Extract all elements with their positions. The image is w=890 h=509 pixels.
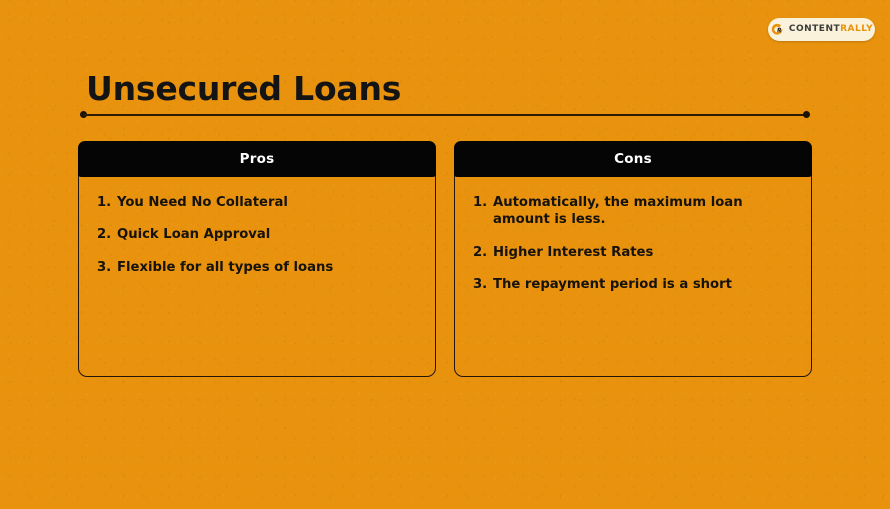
panel-pros-header-title: Pros	[240, 151, 275, 167]
panel-pros-list: 1. You Need No Collateral 2. Quick Loan …	[97, 194, 419, 276]
panel-cons: 1. Automatically, the maximum loan amoun…	[454, 141, 812, 377]
panel-pros-body: 1. You Need No Collateral 2. Quick Loan …	[78, 171, 436, 377]
list-item-number: 3.	[97, 259, 117, 276]
logo-word-rally: RALLY	[840, 24, 873, 34]
panel-cons-body: 1. Automatically, the maximum loan amoun…	[454, 171, 812, 377]
list-item: 3. The repayment period is a short	[473, 276, 795, 293]
list-item: 3. Flexible for all types of loans	[97, 259, 419, 276]
list-item: 2. Higher Interest Rates	[473, 244, 795, 261]
page-title: Unsecured Loans	[86, 71, 401, 107]
list-item-text: Quick Loan Approval	[117, 226, 419, 243]
list-item: 1. You Need No Collateral	[97, 194, 419, 211]
list-item-text: Automatically, the maximum loan amount i…	[493, 194, 795, 229]
list-item-number: 1.	[473, 194, 493, 211]
list-item-text: The repayment period is a short	[493, 276, 795, 293]
divider-line	[83, 114, 807, 116]
panel-pros: 1. You Need No Collateral 2. Quick Loan …	[78, 141, 436, 377]
panel-cons-header: Cons	[454, 141, 812, 177]
cr-monogram-icon	[770, 22, 785, 37]
logo-wordmark: CONTENTRALLY	[789, 25, 873, 34]
list-item-text: You Need No Collateral	[117, 194, 419, 211]
list-item: 1. Automatically, the maximum loan amoun…	[473, 194, 795, 229]
list-item-number: 3.	[473, 276, 493, 293]
list-item-number: 2.	[97, 226, 117, 243]
title-divider	[80, 111, 810, 118]
list-item: 2. Quick Loan Approval	[97, 226, 419, 243]
brand-logo[interactable]: CONTENTRALLY	[768, 18, 875, 41]
divider-dot-right	[803, 111, 810, 118]
panel-cons-list: 1. Automatically, the maximum loan amoun…	[473, 194, 795, 294]
list-item-text: Flexible for all types of loans	[117, 259, 419, 276]
slide-canvas: CONTENTRALLY Unsecured Loans 1. You Need…	[0, 0, 890, 509]
list-item-number: 2.	[473, 244, 493, 261]
logo-word-content: CONTENT	[789, 24, 840, 34]
list-item-number: 1.	[97, 194, 117, 211]
list-item-text: Higher Interest Rates	[493, 244, 795, 261]
panel-pros-header: Pros	[78, 141, 436, 177]
panel-cons-header-title: Cons	[614, 151, 652, 167]
